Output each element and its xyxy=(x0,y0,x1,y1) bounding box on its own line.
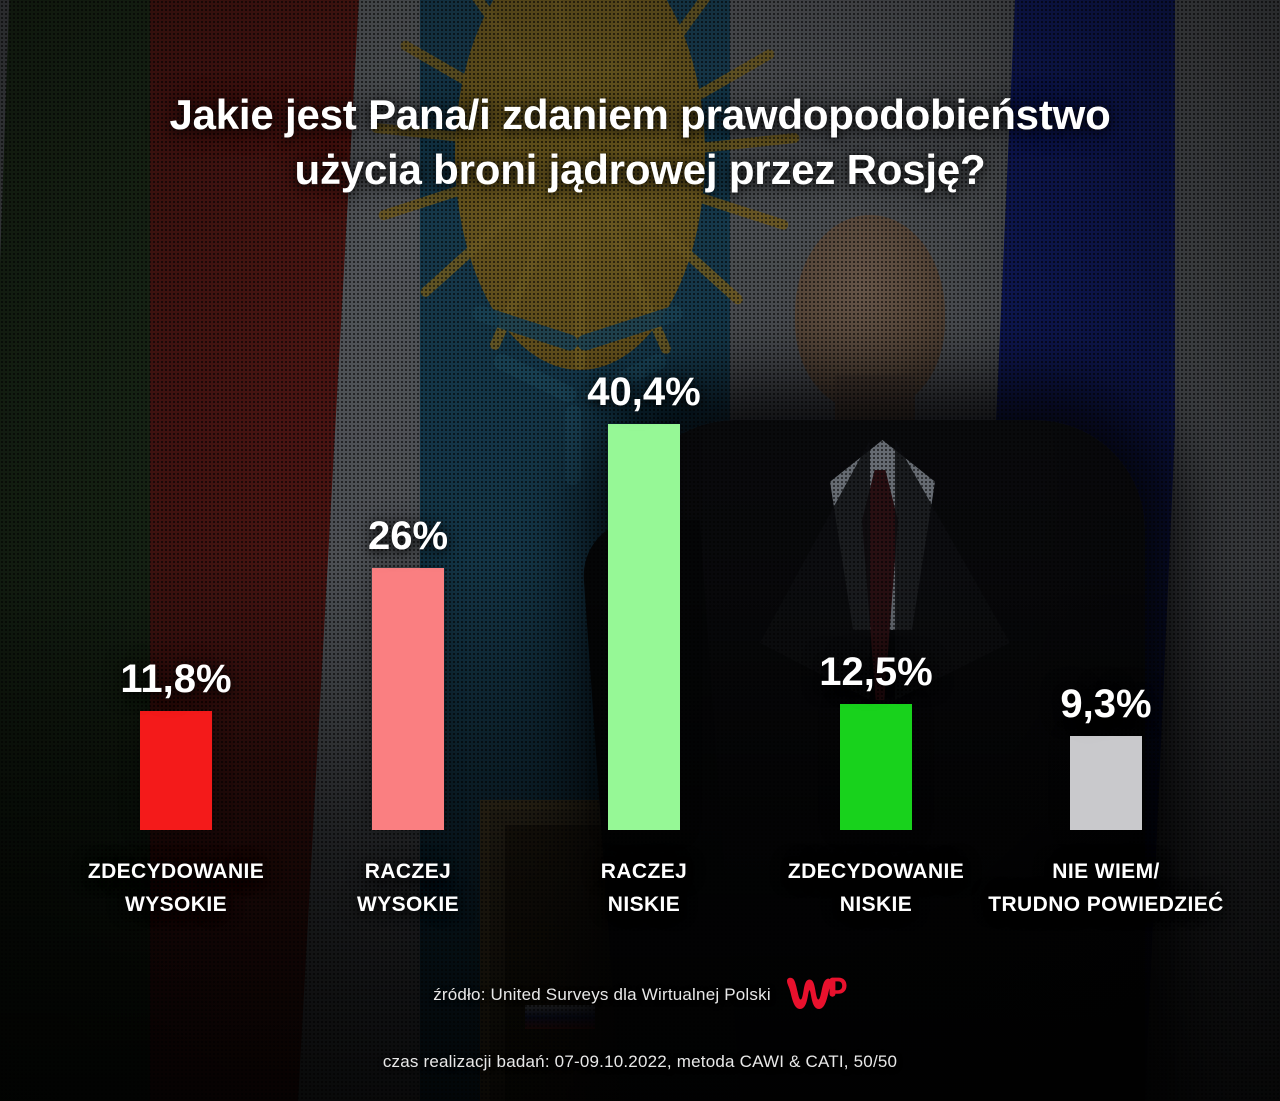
footer: źródło: United Surveys dla Wirtualnej Po… xyxy=(0,975,1280,1072)
bar-value-label: 12,5% xyxy=(756,652,996,692)
bar-category-label: ZDECYDOWANIE NISKIE xyxy=(756,856,996,921)
bar-value-label: 26% xyxy=(288,516,528,556)
bar-rect xyxy=(372,568,444,830)
bar-rect xyxy=(140,711,212,830)
bar-category-line-2: WYSOKIE xyxy=(288,889,528,922)
bar-category-label: RACZEJ WYSOKIE xyxy=(288,856,528,921)
bar-category-line-2: NISKIE xyxy=(524,889,764,922)
bar-category-line-1: RACZEJ xyxy=(524,856,764,889)
bar-category-label: ZDECYDOWANIE WYSOKIE xyxy=(56,856,296,921)
bar-category-label: RACZEJ NISKIE xyxy=(524,856,764,921)
bar-category-line-2: NISKIE xyxy=(756,889,996,922)
bar-category-line-1: ZDECYDOWANIE xyxy=(756,856,996,889)
bar-value-label: 11,8% xyxy=(56,659,296,699)
source-text: źródło: United Surveys dla Wirtualnej Po… xyxy=(433,985,771,1005)
bar-rect xyxy=(840,704,912,830)
bar-category-line-1: ZDECYDOWANIE xyxy=(56,856,296,889)
source-row: źródło: United Surveys dla Wirtualnej Po… xyxy=(0,975,1280,1015)
bar-rect xyxy=(1070,736,1142,830)
bar-category-line-1: RACZEJ xyxy=(288,856,528,889)
bar-chart: 11,8% ZDECYDOWANIE WYSOKIE 26% RACZEJ WY… xyxy=(0,0,1280,1101)
bar-group-raczej-niskie: 40,4% RACZEJ NISKIE xyxy=(524,372,764,830)
infographic-canvas: РОССИЙСКАЯ Jakie jest Pana/i zdaniem pra… xyxy=(0,0,1280,1101)
bar-category-line-2: TRUDNO POWIEDZIEĆ xyxy=(986,889,1226,922)
bar-category-line-1: NIE WIEM/ xyxy=(986,856,1226,889)
bar-value-label: 9,3% xyxy=(986,684,1226,724)
bar-value-label: 40,4% xyxy=(524,372,764,412)
wp-logo-icon xyxy=(785,975,847,1015)
bar-group-nie-wiem: 9,3% NIE WIEM/ TRUDNO POWIEDZIEĆ xyxy=(986,684,1226,830)
bar-group-raczej-wysokie: 26% RACZEJ WYSOKIE xyxy=(288,516,528,830)
bar-category-line-2: WYSOKIE xyxy=(56,889,296,922)
bar-group-zdecydowanie-niskie: 12,5% ZDECYDOWANIE NISKIE xyxy=(756,652,996,830)
bar-group-zdecydowanie-wysokie: 11,8% ZDECYDOWANIE WYSOKIE xyxy=(56,659,296,830)
bar-category-label: NIE WIEM/ TRUDNO POWIEDZIEĆ xyxy=(986,856,1226,921)
method-text: czas realizacji badań: 07-09.10.2022, me… xyxy=(0,1052,1280,1072)
bar-rect xyxy=(608,424,680,830)
